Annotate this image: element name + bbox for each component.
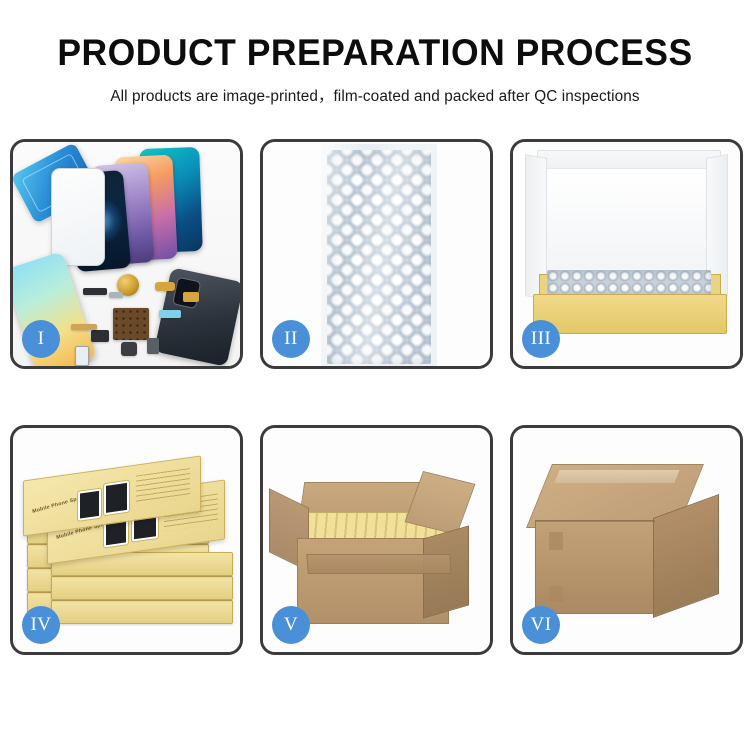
step-panel-sealed-carton: VI: [510, 425, 743, 655]
carton-flap-front: [306, 554, 451, 574]
step-badge-6: VI: [522, 606, 560, 644]
carton-edge-seam: [535, 520, 655, 522]
page-subtitle: All products are image-printed，film-coat…: [4, 84, 747, 106]
stacked-box: [51, 600, 233, 624]
stacked-box: [51, 576, 233, 600]
step-panel-bubble-wrap: II: [260, 139, 493, 369]
page-title: PRODUCT PREPARATION PROCESS: [15, 34, 735, 71]
step-badge-5: V: [272, 606, 310, 644]
component-part: [83, 288, 107, 295]
screen-protector-icon: [51, 168, 105, 266]
spec-text-block: [136, 468, 190, 506]
packing-tape: [554, 470, 679, 483]
carton-tab: [549, 532, 563, 550]
steps-grid: I II III: [10, 139, 740, 739]
step-badge-4: IV: [22, 606, 60, 644]
box-tray-front: [533, 294, 727, 334]
step-panel-stacked-boxes: Mobile Phone Spare Parts Mobile Phone Sp…: [10, 425, 243, 655]
component-part: [75, 346, 89, 366]
infographic-page: PRODUCT PREPARATION PROCESS All products…: [0, 0, 750, 750]
carton-tab: [549, 586, 563, 602]
component-part: [71, 324, 97, 330]
component-part: [109, 292, 123, 298]
bubble-wrapped-item: [547, 270, 711, 296]
foam-sheet: [543, 168, 715, 278]
component-part: [91, 330, 109, 342]
header: PRODUCT PREPARATION PROCESS All products…: [0, 0, 750, 106]
component-part: [159, 310, 181, 318]
step-panel-carton-filling: V: [260, 425, 493, 655]
component-part: [183, 292, 199, 302]
step-badge-2: II: [272, 320, 310, 358]
component-part: [147, 338, 159, 354]
screen-artwork: [104, 481, 129, 516]
bubble-wrap-icon: [327, 150, 431, 364]
step-badge-1: I: [22, 320, 60, 358]
step-panel-spare-parts: I: [10, 139, 243, 369]
step-badge-3: III: [522, 320, 560, 358]
component-part: [121, 342, 137, 356]
chip-array-icon: [113, 308, 149, 340]
screen-artwork: [78, 489, 101, 521]
step-panel-inner-box: III: [510, 139, 743, 369]
component-part: [155, 282, 175, 291]
